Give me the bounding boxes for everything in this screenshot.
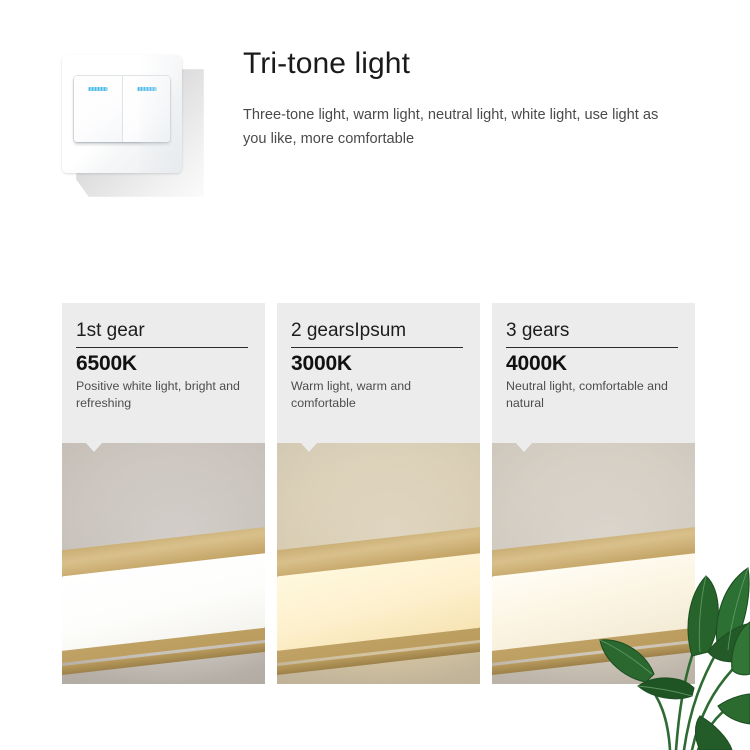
gear-card-list: 1st gear 6500K Positive white light, bri… (62, 303, 695, 684)
product-feature-page: Tri-tone light Three-tone light, warm li… (0, 0, 750, 750)
page-title: Tri-tone light (243, 46, 713, 82)
gear-description: Neutral light, comfortable and natural (506, 378, 681, 411)
switch-rocker-group (74, 76, 170, 142)
pointer-triangle-icon (515, 442, 533, 452)
page-description: Three-tone light, warm light, neutral li… (243, 104, 671, 151)
switch-indicator-led-icon (137, 87, 156, 91)
gear-divider (291, 347, 463, 348)
header-section: Tri-tone light Three-tone light, warm li… (0, 0, 750, 300)
gear-card-head: 1st gear 6500K Positive white light, bri… (62, 303, 265, 443)
switch-rocker-right (122, 76, 170, 142)
gear-description: Positive white light, bright and refresh… (76, 378, 251, 411)
ceiling-light-warm-white-photo (277, 443, 480, 684)
gear-description: Warm light, warm and comfortable (291, 378, 466, 411)
pointer-triangle-icon (300, 442, 318, 452)
switch-faceplate (62, 55, 182, 173)
gear-label: 1st gear (76, 321, 251, 342)
switch-indicator-led-icon (89, 87, 108, 91)
ceiling-light-neutral-white-photo (492, 443, 695, 684)
wall-switch-two-gang-icon (62, 55, 192, 185)
gear-card: 2 gearsIpsum 3000K Warm light, warm and … (277, 303, 480, 684)
gear-card-head: 2 gearsIpsum 3000K Warm light, warm and … (277, 303, 480, 443)
color-temperature-value: 6500K (76, 352, 251, 376)
header-copy: Tri-tone light Three-tone light, warm li… (243, 46, 713, 151)
color-temperature-value: 4000K (506, 352, 681, 376)
switch-rocker-left (74, 76, 122, 142)
color-temperature-value: 3000K (291, 352, 466, 376)
gear-label: 3 gears (506, 321, 681, 342)
ceiling-light-fixture (492, 525, 695, 674)
gear-divider (506, 347, 678, 348)
ceiling-light-fixture (62, 525, 265, 674)
gear-card-head: 3 gears 4000K Neutral light, comfortable… (492, 303, 695, 443)
gear-divider (76, 347, 248, 348)
gear-card: 1st gear 6500K Positive white light, bri… (62, 303, 265, 684)
ceiling-light-fixture (277, 525, 480, 674)
gear-label: 2 gearsIpsum (291, 321, 466, 342)
pointer-triangle-icon (85, 442, 103, 452)
ceiling-light-cool-white-photo (62, 443, 265, 684)
gear-card: 3 gears 4000K Neutral light, comfortable… (492, 303, 695, 684)
